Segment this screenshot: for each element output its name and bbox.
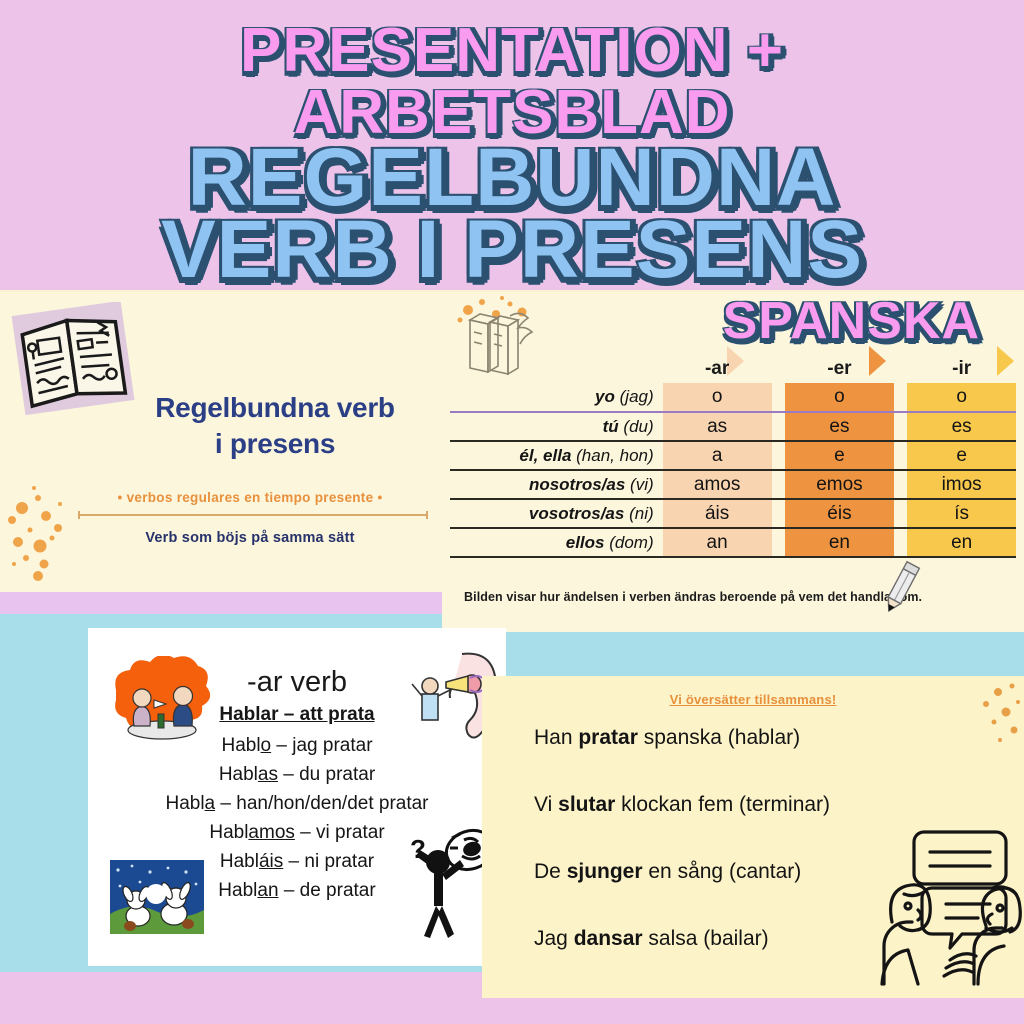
ar-translation: – jag pratar — [271, 735, 372, 756]
ar-form-yo: Hablo – jag pratar — [88, 735, 506, 757]
ending-vosotros-ir: ís — [907, 499, 1016, 528]
sentence-before: Vi — [534, 793, 558, 816]
header-line-verb-i-presens: VERB I PRESENS — [0, 212, 1024, 287]
slide-title-heading: Regelbundna verb i presens — [110, 390, 440, 462]
table-row: yo (jag) o o o — [450, 383, 1016, 412]
header-line-presentation: PRESENTATION + — [0, 22, 1024, 79]
ar-translation: – du pratar — [278, 764, 375, 785]
table-row: ellos (dom) an en en — [450, 528, 1016, 557]
ending-ellos-er: en — [785, 528, 894, 557]
sentence-after: spanska (hablar) — [638, 726, 800, 749]
slide-title-note: Verb som böjs på samma sätt — [60, 530, 440, 546]
swedish-ellos: (dom) — [609, 533, 653, 552]
ar-stem: Habl — [209, 822, 248, 843]
sentence-verb: pratar — [578, 726, 638, 749]
slide-title-heading-line1: Regelbundna verb — [155, 392, 394, 423]
translate-heading: Vi översätter tillsammans! — [482, 692, 1024, 707]
ar-form-el: Habla – han/hon/den/det pratar — [88, 793, 506, 815]
sentence-verb: slutar — [558, 793, 615, 816]
sentence-after: klockan fem (terminar) — [615, 793, 830, 816]
ar-stem: Habl — [221, 735, 260, 756]
ending-ellos-ir: en — [907, 528, 1016, 557]
table-header-row: -ar -er -ir — [450, 354, 1016, 383]
pronoun-el-ella: él, ella — [519, 446, 571, 465]
swedish-nosotros: (vi) — [630, 475, 654, 494]
ar-form-ellos: Hablan – de pratar — [88, 880, 506, 902]
column-header-ar: -ar — [663, 354, 772, 383]
ending-nosotros-er: emos — [785, 470, 894, 499]
ending-yo-ar: o — [663, 383, 772, 412]
pronoun-nosotros: nosotros/as — [529, 475, 625, 494]
ending-nosotros-ir: imos — [907, 470, 1016, 499]
ar-form-nosotros: Hablamos – vi pratar — [88, 822, 506, 844]
ending-yo-ir: o — [907, 383, 1016, 412]
sentence-before: De — [534, 860, 567, 883]
table-caption: Bilden visar hur ändelsen i verben ändra… — [464, 590, 922, 604]
ar-ending: an — [257, 880, 278, 901]
column-header-ir: -ir — [907, 354, 1016, 383]
ar-translation: – han/hon/den/det pratar — [215, 793, 428, 814]
confetti-dots-decoration — [4, 472, 114, 582]
conjugation-table: -ar -er -ir yo (jag) o o o tú (du) as es — [450, 354, 1016, 558]
slide-title-heading-line2: i presens — [215, 428, 335, 459]
pronoun-vosotros: vosotros/as — [529, 504, 624, 523]
sentence-after: en sång (cantar) — [643, 860, 802, 883]
header-line-spanska: SPANSKA — [0, 298, 1024, 346]
poster-canvas: PRESENTATION + ARBETSBLAD REGELBUNDNA VE… — [0, 0, 1024, 1024]
ending-tu-ar: as — [663, 412, 772, 441]
swedish-tu: (du) — [623, 417, 653, 436]
ar-ending: amos — [248, 822, 294, 843]
ending-nosotros-ar: amos — [663, 470, 772, 499]
ar-translation: – ni pratar — [283, 851, 374, 872]
ending-el-er: e — [785, 441, 894, 470]
slide-title-divider — [78, 514, 428, 516]
slide-title-subtitle: • verbos regulares en tiempo presente • — [60, 490, 440, 505]
ar-infinitive: Hablar – att prata — [88, 704, 506, 726]
table-row: él, ella (han, hon) a e e — [450, 441, 1016, 470]
swedish-el-ella: (han, hon) — [576, 446, 654, 465]
pencil-icon — [874, 560, 928, 616]
ending-tu-ir: es — [907, 412, 1016, 441]
table-row: tú (du) as es es — [450, 412, 1016, 441]
pronoun-yo: yo — [595, 387, 615, 406]
ending-vosotros-er: éis — [785, 499, 894, 528]
ar-ending: a — [205, 793, 216, 814]
slide-ar-verb: ? -ar verb Hablar – att prata Hablo – ja… — [88, 628, 506, 966]
ending-yo-er: o — [785, 383, 894, 412]
table-row: vosotros/as (ni) áis éis ís — [450, 499, 1016, 528]
ar-stem: Habl — [219, 764, 258, 785]
sentence-after: salsa (bailar) — [643, 927, 769, 950]
table-row: nosotros/as (vi) amos emos imos — [450, 470, 1016, 499]
ar-ending: o — [261, 735, 272, 756]
swedish-vosotros: (ni) — [629, 504, 654, 523]
ar-translation: – vi pratar — [295, 822, 385, 843]
ending-vosotros-ar: áis — [663, 499, 772, 528]
ending-el-ar: a — [663, 441, 772, 470]
sentence-before: Han — [534, 726, 578, 749]
ar-ending: áis — [259, 851, 283, 872]
ending-el-ir: e — [907, 441, 1016, 470]
ar-form-vosotros: Habláis – ni pratar — [88, 851, 506, 873]
sentence-verb: sjunger — [567, 860, 643, 883]
pronoun-tu: tú — [603, 417, 619, 436]
ending-tu-er: es — [785, 412, 894, 441]
ar-verb-conjugation-list: Hablar – att prata Hablo – jag pratar Ha… — [88, 704, 506, 909]
sentence-verb: dansar — [574, 927, 643, 950]
translate-sentence-2: Vi slutar klockan fem (terminar) — [534, 793, 974, 817]
swedish-yo: (jag) — [620, 387, 654, 406]
ending-ellos-ar: an — [663, 528, 772, 557]
two-people-talking-icon — [874, 826, 1022, 986]
ar-ending: as — [258, 764, 278, 785]
sentence-before: Jag — [534, 927, 574, 950]
slide-translate: Vi översätter tillsammans! Han pratar sp… — [482, 676, 1024, 998]
column-header-er: -er — [785, 354, 894, 383]
ar-stem: Habl — [220, 851, 259, 872]
ar-form-tu: Hablas – du pratar — [88, 764, 506, 786]
ar-translation: – de pratar — [279, 880, 376, 901]
ar-stem: Habl — [165, 793, 204, 814]
pronoun-ellos: ellos — [566, 533, 605, 552]
translate-sentence-1: Han pratar spanska (hablar) — [534, 726, 974, 750]
ar-stem: Habl — [218, 880, 257, 901]
ar-verb-title: -ar verb — [88, 666, 506, 699]
